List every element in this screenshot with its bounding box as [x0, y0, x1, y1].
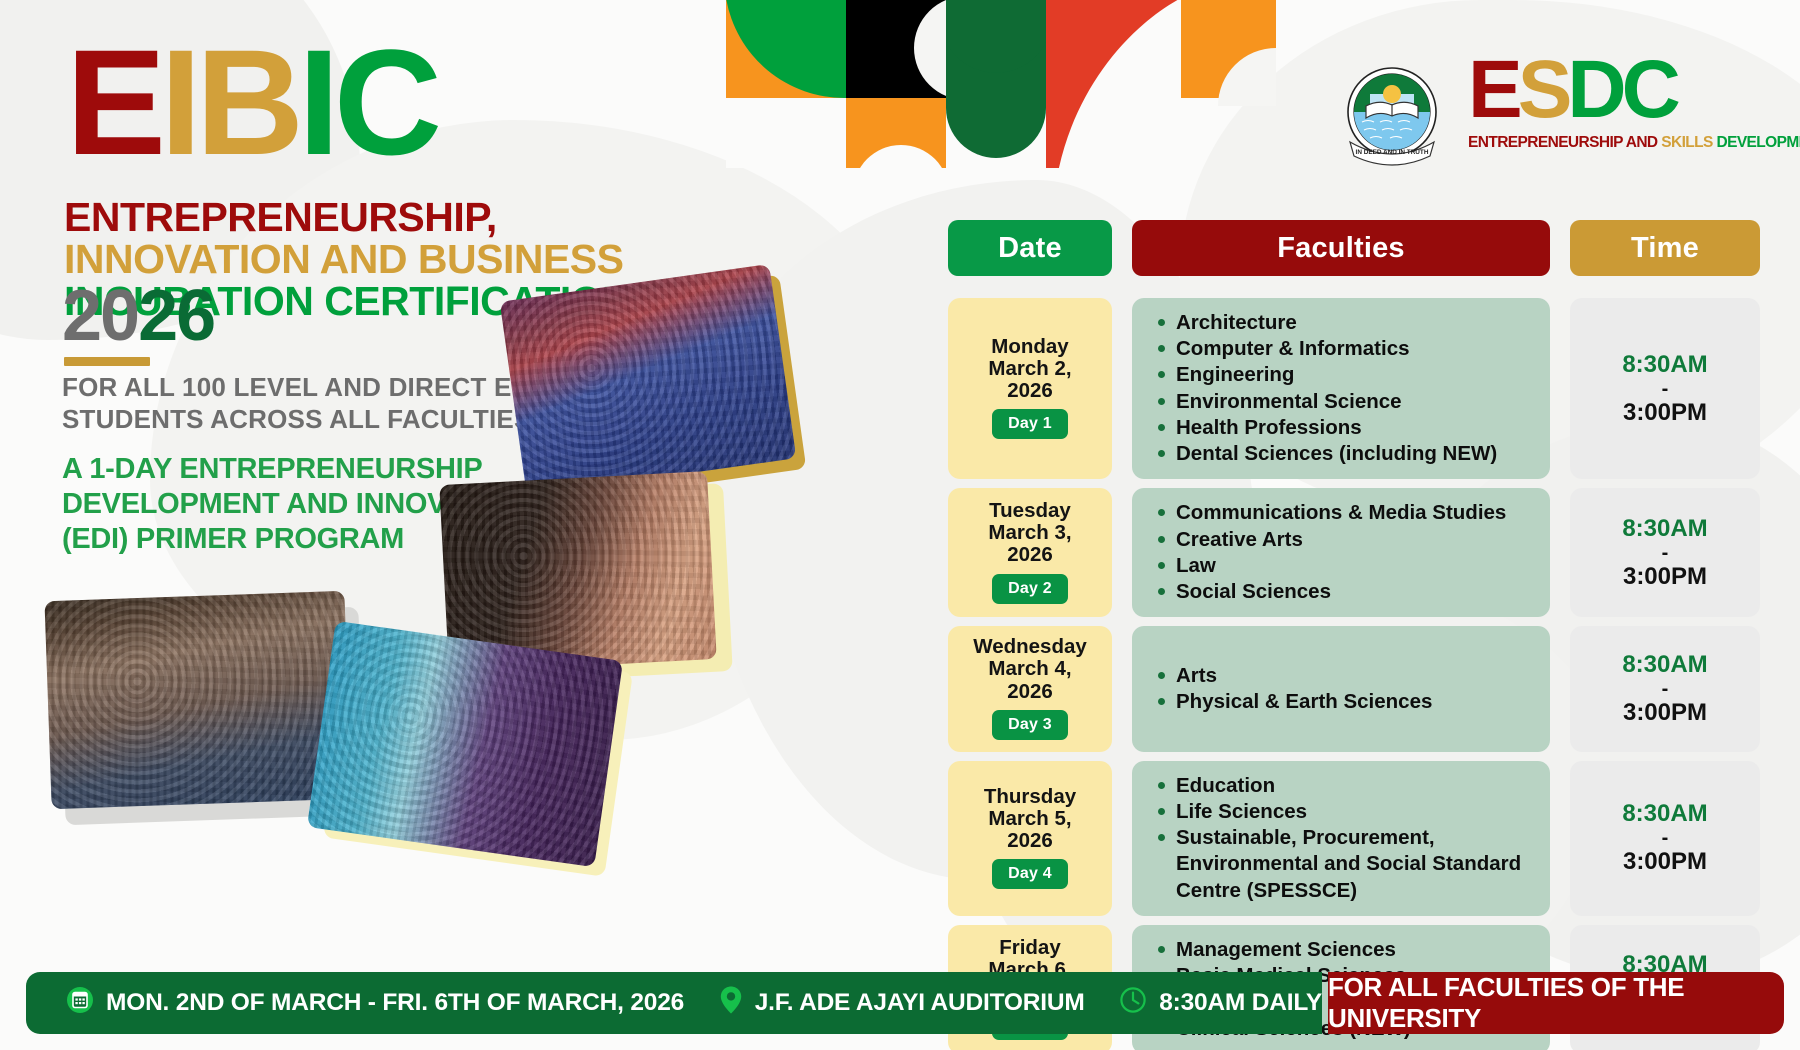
faculty-list: ArchitectureComputer & InformaticsEngine…	[1158, 310, 1497, 467]
time-start: 8:30AM	[1622, 800, 1707, 828]
subtitle-line-1: ENTREPRENEURSHIP,	[64, 197, 684, 239]
cell-faculties: EducationLife SciencesSustainable, Procu…	[1132, 761, 1550, 916]
photo-auditorium	[500, 264, 797, 496]
date-text: MondayMarch 2,2026	[988, 336, 1071, 402]
faculty-list-item: Creative Arts	[1158, 527, 1506, 553]
photo-students-crowd	[44, 591, 351, 809]
cell-date: TuesdayMarch 3,2026Day 2	[948, 488, 1112, 617]
time-dash: -	[1662, 544, 1669, 562]
esdc-letter-d: D	[1567, 58, 1621, 122]
cell-faculties: ArchitectureComputer & InformaticsEngine…	[1132, 298, 1550, 479]
logo-letter-c: C	[334, 44, 436, 161]
footer-dates-item: MON. 2ND OF MARCH - FRI. 6TH OF MARCH, 2…	[66, 986, 684, 1021]
esdc-letter-group: E S D C	[1468, 58, 1768, 132]
year-prefix: 20	[62, 276, 138, 356]
table-row: ThursdayMarch 5,2026Day 4EducationLife S…	[948, 761, 1760, 916]
event-year: 2026	[62, 280, 214, 352]
day-badge: Day 4	[992, 859, 1068, 889]
calendar-icon	[66, 986, 94, 1021]
cell-date: ThursdayMarch 5,2026Day 4	[948, 761, 1112, 916]
cell-faculties: Communications & Media StudiesCreative A…	[1132, 488, 1550, 617]
photo-man-speaker	[307, 621, 623, 867]
date-line: March 3,	[988, 522, 1071, 544]
faculty-list-item: Dental Sciences (including NEW)	[1158, 441, 1497, 467]
faculty-list-item: Communications & Media Studies	[1158, 500, 1506, 526]
footer-banner-text: FOR ALL FACULTIES OF THE UNIVERSITY	[1328, 972, 1784, 1034]
table-row: TuesdayMarch 3,2026Day 2Communications &…	[948, 488, 1760, 617]
footer-dates-text: MON. 2ND OF MARCH - FRI. 6TH OF MARCH, 2…	[106, 989, 684, 1017]
footer-venue-text: J.F. ADE AJAYI AUDITORIUM	[755, 989, 1085, 1017]
logo-letter-i2: I	[298, 44, 334, 161]
time-end: 3:00PM	[1623, 699, 1707, 727]
cell-time: 8:30AM-3:00PM	[1570, 626, 1760, 751]
faculty-list-item: Health Professions	[1158, 415, 1497, 441]
date-line: Friday	[988, 937, 1071, 959]
esdc-tagline-part-3: DEVELOPMENT CENTER	[1716, 134, 1800, 151]
column-header-time: Time	[1570, 220, 1760, 276]
time-end: 3:00PM	[1623, 563, 1707, 591]
esdc-logo: E S D C ENTREPRENEURSHIP AND SKILLS DEVE…	[1468, 58, 1768, 168]
faculty-list-item: Management Sciences	[1158, 937, 1411, 963]
esdc-letter-s: S	[1518, 58, 1568, 122]
logo-letter-b: B	[196, 44, 298, 161]
time-dash: -	[1662, 829, 1669, 847]
date-line: 2026	[988, 544, 1071, 566]
footer-banner: FOR ALL FACULTIES OF THE UNIVERSITY	[1328, 972, 1784, 1034]
table-body: MondayMarch 2,2026Day 1ArchitectureCompu…	[948, 298, 1760, 1050]
time-dash: -	[1662, 380, 1669, 398]
esdc-letter-e: E	[1468, 58, 1518, 122]
university-of-lagos-crest-logo: IN DEED AND IN TRUTH	[1340, 64, 1444, 168]
footer-info-strip: MON. 2ND OF MARCH - FRI. 6TH OF MARCH, 2…	[26, 972, 1322, 1034]
faculty-list-item: Engineering	[1158, 362, 1497, 388]
cell-date: MondayMarch 2,2026Day 1	[948, 298, 1112, 479]
date-line: Monday	[988, 336, 1071, 358]
faculty-list-item: Social Sciences	[1158, 579, 1506, 605]
date-text: ThursdayMarch 5,2026	[984, 786, 1076, 852]
faculty-list-item: Sustainable, Procurement, Environmental …	[1158, 825, 1534, 904]
faculty-list: ArtsPhysical & Earth Sciences	[1158, 663, 1432, 715]
table-header-row: Date Faculties Time	[948, 220, 1760, 276]
footer-bar: MON. 2ND OF MARCH - FRI. 6TH OF MARCH, 2…	[26, 972, 1784, 1034]
time-end: 3:00PM	[1623, 848, 1707, 876]
logo-letter-i: I	[160, 44, 196, 161]
faculty-list-item: Education	[1158, 773, 1534, 799]
date-text: TuesdayMarch 3,2026	[988, 500, 1071, 566]
date-line: Wednesday	[973, 636, 1087, 658]
time-start: 8:30AM	[1622, 651, 1707, 679]
date-line: Tuesday	[988, 500, 1071, 522]
time-dash: -	[1662, 680, 1669, 698]
time-end: 3:00PM	[1623, 399, 1707, 427]
date-text: WednesdayMarch 4,2026	[973, 636, 1087, 702]
day-badge: Day 2	[992, 574, 1068, 604]
date-line: 2026	[984, 830, 1076, 852]
date-line: March 2,	[988, 358, 1071, 380]
faculty-list-item: Computer & Informatics	[1158, 336, 1497, 362]
time-start: 8:30AM	[1622, 515, 1707, 543]
faculty-list-item: Life Sciences	[1158, 799, 1534, 825]
cell-time: 8:30AM-3:00PM	[1570, 488, 1760, 617]
faculty-list-item: Arts	[1158, 663, 1432, 689]
poster-canvas: E I B I C ENTREPRENEURSHIP, INNOVATION A…	[0, 0, 1800, 1050]
cell-time: 8:30AM-3:00PM	[1570, 298, 1760, 479]
faculty-list: EducationLife SciencesSustainable, Procu…	[1158, 773, 1534, 904]
faculty-list-item: Physical & Earth Sciences	[1158, 689, 1432, 715]
esdc-letter-c: C	[1622, 58, 1676, 122]
schedule-table: Date Faculties Time MondayMarch 2,2026Da…	[948, 220, 1760, 1050]
table-row: WednesdayMarch 4,2026Day 3ArtsPhysical &…	[948, 626, 1760, 751]
cell-faculties: ArtsPhysical & Earth Sciences	[1132, 626, 1550, 751]
year-suffix: 26	[138, 276, 214, 356]
footer-time-item: 8:30AM DAILY	[1119, 986, 1322, 1021]
clock-icon	[1119, 986, 1147, 1021]
table-row: MondayMarch 2,2026Day 1ArchitectureCompu…	[948, 298, 1760, 479]
esdc-tagline: ENTREPRENEURSHIP AND SKILLS DEVELOPMENT …	[1468, 134, 1768, 152]
faculty-list-item: Environmental Science	[1158, 389, 1497, 415]
faculty-list: Communications & Media StudiesCreative A…	[1158, 500, 1506, 605]
faculty-list-item: Law	[1158, 553, 1506, 579]
time-start: 8:30AM	[1622, 351, 1707, 379]
esdc-tagline-part-1: ENTREPRENEURSHIP AND	[1468, 134, 1661, 151]
location-pin-icon	[719, 985, 743, 1022]
date-line: 2026	[973, 681, 1087, 703]
left-content-column: E I B I C ENTREPRENEURSHIP, INNOVATION A…	[0, 0, 940, 1050]
cell-date: WednesdayMarch 4,2026Day 3	[948, 626, 1112, 751]
footer-venue-item: J.F. ADE AJAYI AUDITORIUM	[719, 985, 1085, 1022]
esdc-tagline-part-2: SKILLS	[1661, 134, 1716, 151]
date-line: 2026	[988, 380, 1071, 402]
column-header-faculties: Faculties	[1132, 220, 1550, 276]
day-badge: Day 3	[992, 710, 1068, 740]
footer-time-text: 8:30AM DAILY	[1159, 989, 1322, 1017]
date-line: March 5,	[984, 808, 1076, 830]
date-line: March 4,	[973, 658, 1087, 680]
column-header-date: Date	[948, 220, 1112, 276]
faculty-list-item: Architecture	[1158, 310, 1497, 336]
university-motto-text: IN DEED AND IN TRUTH	[1356, 149, 1429, 156]
day-badge: Day 1	[992, 409, 1068, 439]
subtitle-line-2: INNOVATION AND BUSINESS	[64, 239, 684, 281]
gold-divider-rule	[64, 357, 150, 366]
logo-letter-e: E	[66, 44, 160, 161]
date-line: Thursday	[984, 786, 1076, 808]
cell-time: 8:30AM-3:00PM	[1570, 761, 1760, 916]
eibic-logo: E I B I C	[66, 44, 436, 161]
